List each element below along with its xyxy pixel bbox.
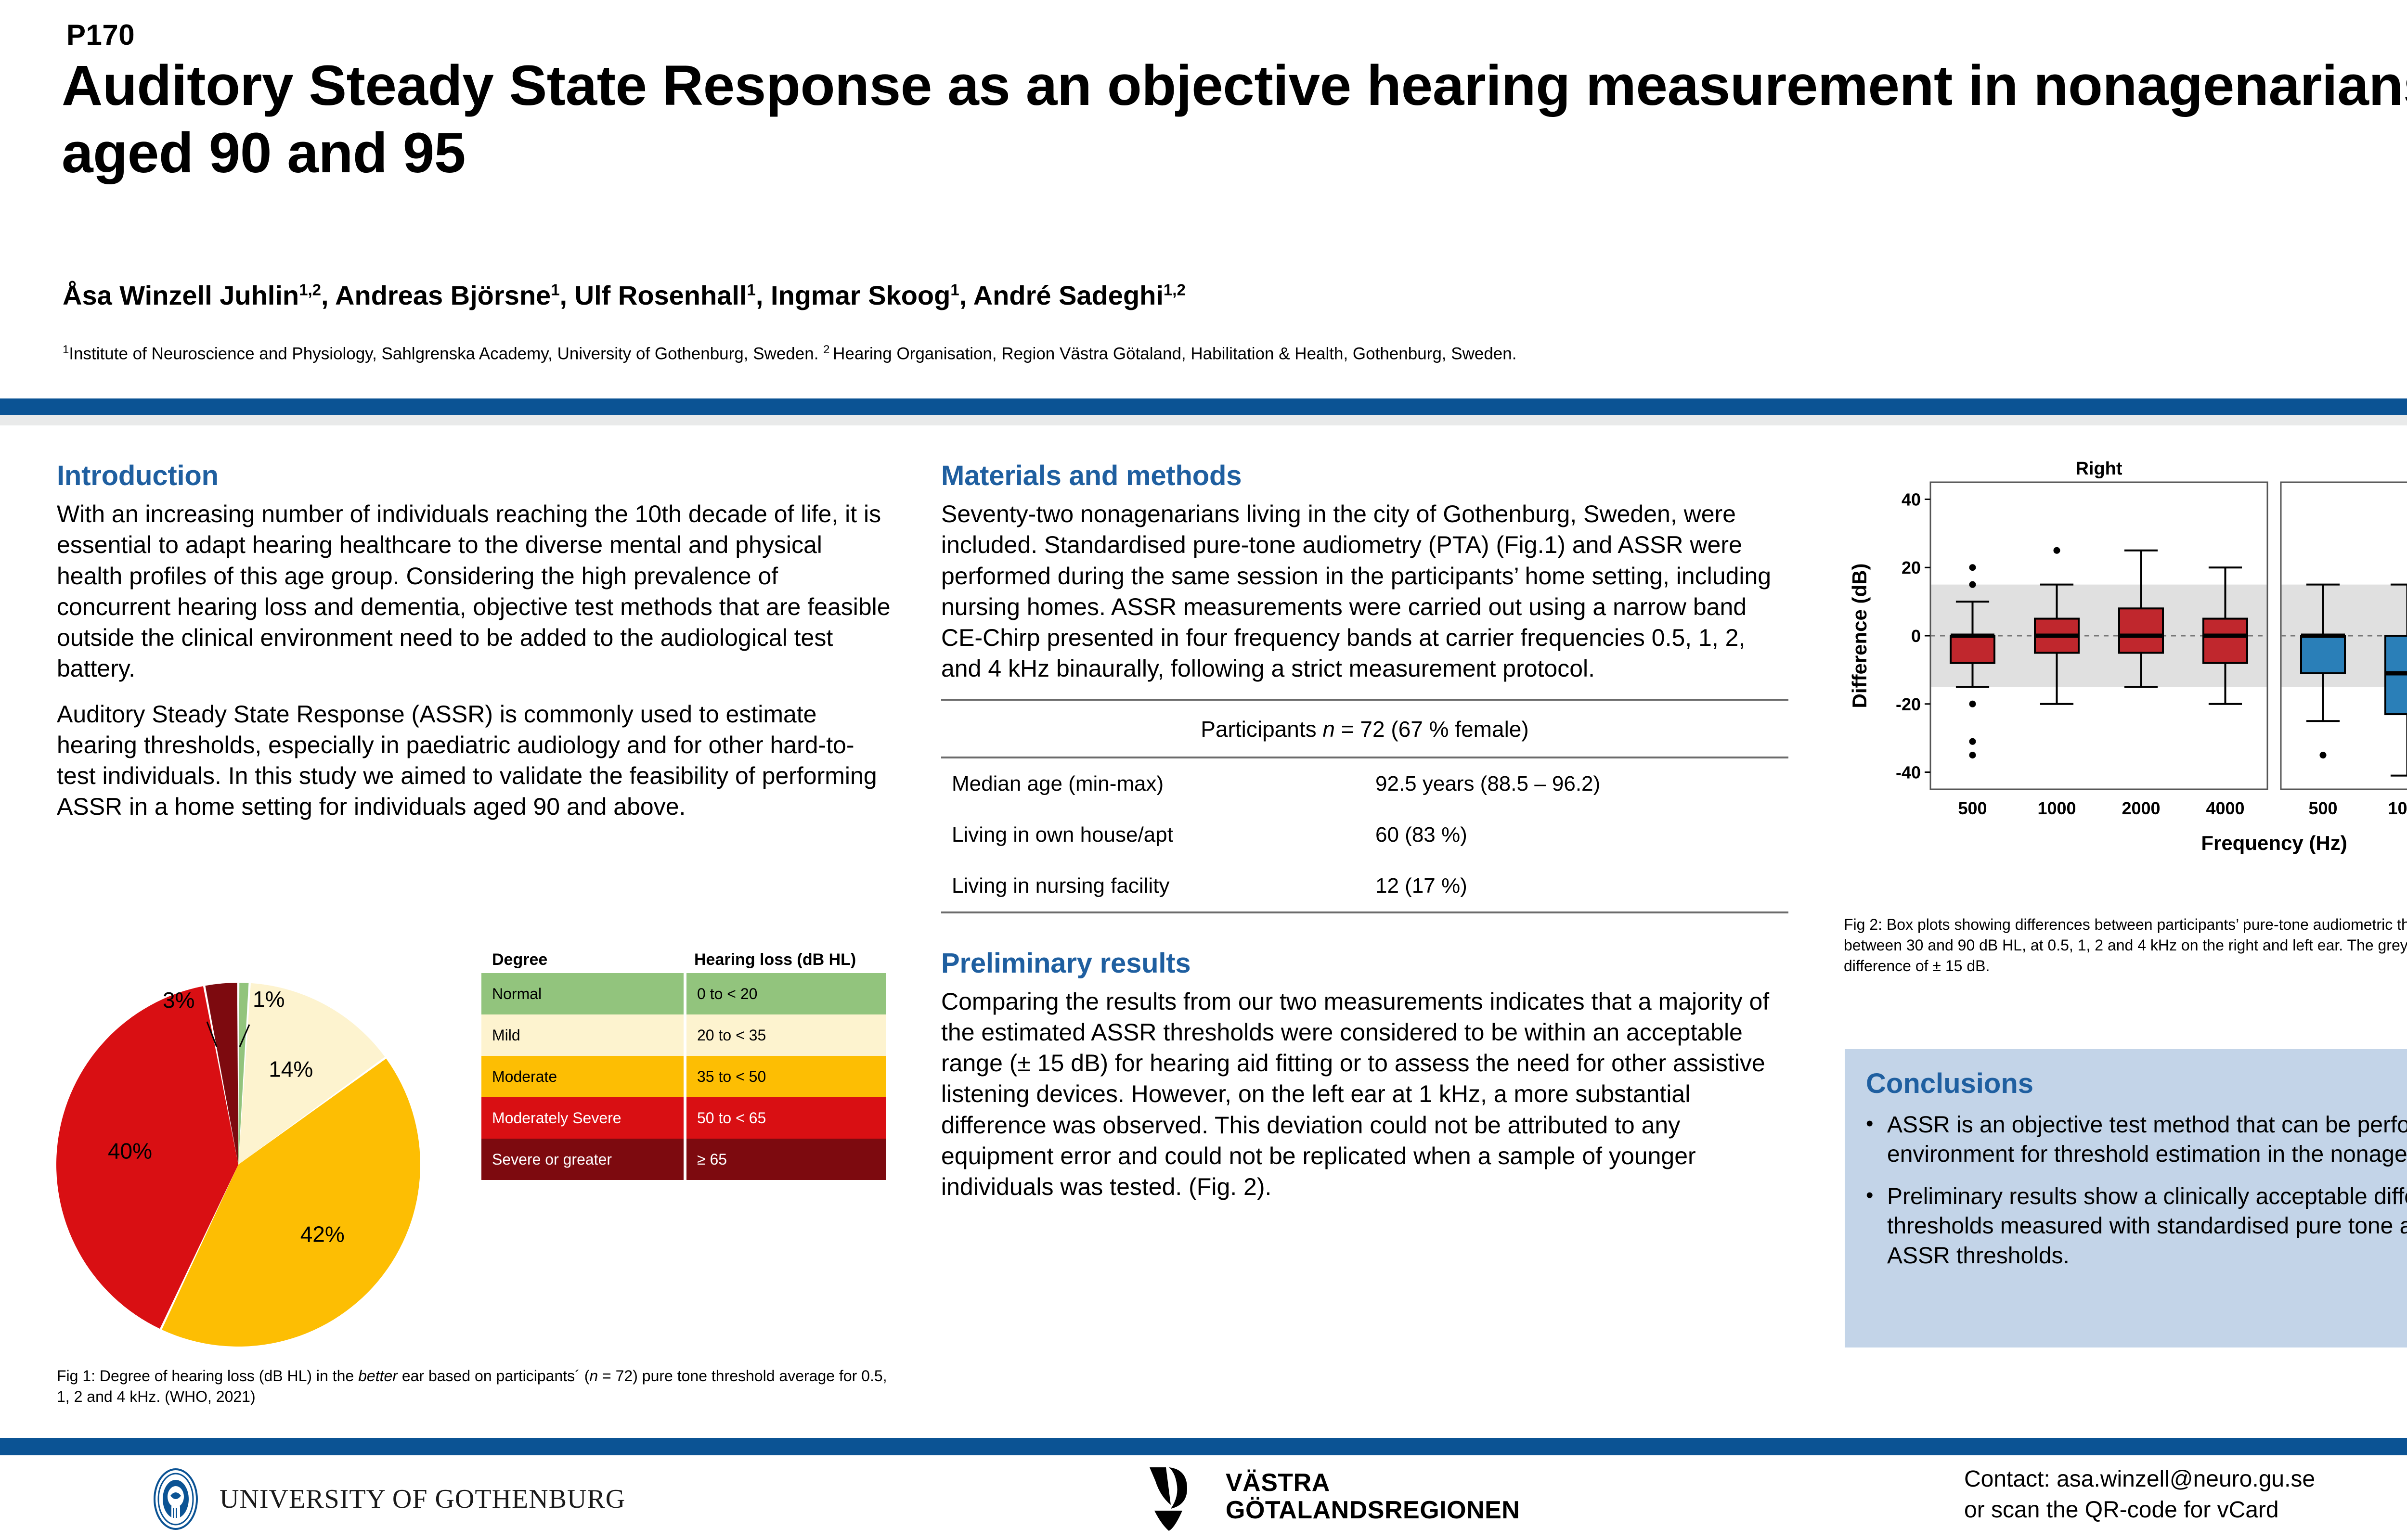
who-range-cell: 35 to < 50 — [684, 1056, 886, 1097]
university-logo-text: UNIVERSITY OF GOTHENBURG — [220, 1484, 625, 1514]
participants-key: Median age (min-max) — [952, 772, 1375, 796]
figure-1: 14%42%40% 3% 1% Degree Hearing loss (dB … — [48, 941, 895, 1374]
boxplot-x-tick-label: 1000 — [2388, 798, 2407, 818]
pie-slice-label: 42% — [300, 1222, 345, 1247]
boxplot-x-tick-label: 1000 — [2037, 798, 2076, 818]
boxplot-x-tick-label: 500 — [1958, 798, 1987, 818]
boxplot-y-tick-label: -40 — [1896, 763, 1921, 783]
column-introduction: Introduction With an increasing number o… — [57, 460, 892, 837]
boxplot-y-tick-label: -20 — [1896, 694, 1921, 714]
materials-paragraph: Seventy-two nonagenarians living in the … — [941, 499, 1788, 684]
boxplot-outlier-point — [1969, 581, 1976, 588]
figure-2-caption: Fig 2: Box plots showing differences bet… — [1844, 914, 2407, 977]
boxplot-x-axis-label: Frequency (Hz) — [2201, 832, 2347, 854]
pie-slices — [56, 983, 420, 1347]
conclusion-item: •Preliminary results show a clinically a… — [1866, 1182, 2407, 1270]
pie-callout-normal: 1% — [253, 986, 285, 1012]
who-degree-cell: Mild — [481, 1027, 684, 1044]
who-table-row: Normal0 to < 20 — [481, 973, 886, 1014]
pie-slice-label: 14% — [269, 1056, 313, 1081]
introduction-paragraph-2: Auditory Steady State Response (ASSR) is… — [57, 699, 892, 822]
conclusions-panel: Conclusions •ASSR is an objective test m… — [1845, 1049, 2407, 1347]
section-heading-results: Preliminary results — [941, 947, 1788, 979]
boxplot-box — [1951, 636, 1994, 663]
results-paragraph: Comparing the results from our two measu… — [941, 986, 1788, 1203]
who-table-header: Degree Hearing loss (dB HL) — [481, 950, 886, 973]
figure-2: RightLeft500100020004000500100020004000-… — [1837, 452, 2407, 866]
page-title: Auditory Steady State Response as an obj… — [62, 52, 2407, 187]
contact-qr-line: or scan the QR-code for vCard — [1964, 1495, 2407, 1526]
poster-id: P170 — [66, 18, 135, 51]
boxplot-y-tick-label: 20 — [1902, 558, 1921, 577]
who-grading-table: Degree Hearing loss (dB HL) Normal0 to <… — [481, 950, 886, 1180]
author-list: Åsa Winzell Juhlin1,2, Andreas Björsne1,… — [63, 279, 2407, 311]
vastra-gotalandsregionen-logo: VÄSTRA GÖTALANDSREGIONEN — [1141, 1458, 1719, 1535]
boxplot-box — [2119, 608, 2163, 653]
vgr-logo-line1: VÄSTRA — [1226, 1469, 1520, 1497]
who-table-row: Moderately Severe50 to < 65 — [481, 1097, 886, 1139]
gu-seal-icon — [144, 1468, 207, 1530]
participants-table: Participants n = 72 (67 % female) Median… — [941, 699, 1788, 913]
bullet-icon: • — [1866, 1110, 1887, 1169]
boxplot-outlier-point — [1969, 752, 1976, 758]
boxplot-svg: RightLeft500100020004000500100020004000-… — [1837, 452, 2407, 866]
participants-value: 92.5 years (88.5 – 96.2) — [1375, 772, 1770, 796]
footer-divider-blue — [0, 1438, 2407, 1455]
boxplot-x-tick-label: 500 — [2308, 798, 2337, 818]
participants-key: Living in own house/apt — [952, 823, 1375, 847]
vgr-mark-icon — [1141, 1461, 1213, 1533]
boxplot-y-tick-label: 0 — [1911, 626, 1921, 646]
bullet-icon: • — [1866, 1182, 1887, 1270]
who-table-row: Mild20 to < 35 — [481, 1014, 886, 1056]
who-degree-cell: Severe or greater — [481, 1151, 684, 1168]
table-row: Living in nursing facility12 (17 %) — [941, 860, 1788, 911]
poster-root: P170 Auditory Steady State Response as a… — [0, 0, 2407, 1540]
who-table-row: Moderate35 to < 50 — [481, 1056, 886, 1097]
university-of-gothenburg-logo: UNIVERSITY OF GOTHENBURG — [144, 1463, 722, 1535]
conclusion-text: ASSR is an objective test method that ca… — [1887, 1110, 2407, 1169]
vgr-logo-text: VÄSTRA GÖTALANDSREGIONEN — [1226, 1469, 1520, 1524]
table-row: Median age (min-max)92.5 years (88.5 – 9… — [941, 758, 1788, 809]
conclusion-item: •ASSR is an objective test method that c… — [1866, 1110, 2407, 1169]
who-table-row: Severe or greater≥ 65 — [481, 1139, 886, 1180]
header-divider-blue — [0, 398, 2407, 415]
boxplot-outlier-point — [1969, 738, 1976, 745]
boxplot-box — [2203, 619, 2247, 663]
participants-table-body: Median age (min-max)92.5 years (88.5 – 9… — [941, 758, 1788, 911]
participants-table-rule-bottom — [941, 911, 1788, 913]
participants-key: Living in nursing facility — [952, 874, 1375, 898]
boxplot-x-tick-label: 2000 — [2122, 798, 2160, 818]
conclusion-text: Preliminary results show a clinically ac… — [1887, 1182, 2407, 1270]
who-range-cell: 0 to < 20 — [684, 973, 886, 1014]
section-heading-introduction: Introduction — [57, 460, 892, 492]
who-range-cell: ≥ 65 — [684, 1139, 886, 1180]
boxplot-outlier-point — [2054, 547, 2060, 554]
table-row: Living in own house/apt60 (83 %) — [941, 809, 1788, 860]
results-block: Preliminary results Comparing the result… — [941, 947, 1788, 1203]
participants-value: 60 (83 %) — [1375, 823, 1770, 847]
boxplot-y-axis-label: Difference (dB) — [1848, 563, 1871, 708]
boxplot-outlier-point — [2320, 752, 2327, 758]
section-heading-conclusions: Conclusions — [1866, 1067, 2407, 1100]
who-col-range: Hearing loss (dB HL) — [684, 950, 886, 969]
pie-chart-svg: 14%42%40% — [48, 975, 428, 1355]
participants-table-title: Participants n = 72 (67 % female) — [941, 701, 1788, 757]
introduction-paragraph-1: With an increasing number of individuals… — [57, 499, 892, 684]
conclusions-list: •ASSR is an objective test method that c… — [1866, 1110, 2407, 1270]
who-degree-cell: Moderately Severe — [481, 1109, 684, 1127]
boxplot-y-tick-label: 40 — [1902, 489, 1921, 509]
boxplot-panel-title: Right — [2075, 459, 2122, 479]
who-col-degree: Degree — [481, 950, 684, 969]
boxplot-outlier-point — [1969, 701, 1976, 707]
boxplot-outlier-point — [1969, 564, 1976, 571]
vgr-logo-line2: GÖTALANDSREGIONEN — [1226, 1497, 1520, 1524]
who-degree-cell: Normal — [481, 985, 684, 1003]
contact-info: Contact: asa.winzell@neuro.gu.se or scan… — [1964, 1464, 2407, 1526]
contact-email-line: Contact: asa.winzell@neuro.gu.se — [1964, 1464, 2407, 1495]
boxplot-box — [2301, 636, 2345, 673]
poster-header: P170 Auditory Steady State Response as a… — [0, 0, 2407, 380]
boxplot-x-tick-label: 4000 — [2206, 798, 2244, 818]
affiliations: 1Institute of Neuroscience and Physiolog… — [63, 343, 2407, 364]
pie-callout-severe: 3% — [163, 987, 194, 1013]
who-table-body: Normal0 to < 20Mild20 to < 35Moderate35 … — [481, 973, 886, 1180]
who-range-cell: 50 to < 65 — [684, 1097, 886, 1139]
who-range-cell: 20 to < 35 — [684, 1014, 886, 1056]
header-divider-gray — [0, 415, 2407, 425]
figure-1-caption: Fig 1: Degree of hearing loss (dB HL) in… — [57, 1366, 904, 1407]
pie-chart: 14%42%40% 3% 1% — [48, 975, 428, 1355]
section-heading-materials: Materials and methods — [941, 460, 1788, 492]
column-materials: Materials and methods Seventy-two nonage… — [941, 460, 1788, 1217]
participants-value: 12 (17 %) — [1375, 874, 1770, 898]
pie-slice-label: 40% — [108, 1139, 152, 1164]
who-degree-cell: Moderate — [481, 1068, 684, 1086]
